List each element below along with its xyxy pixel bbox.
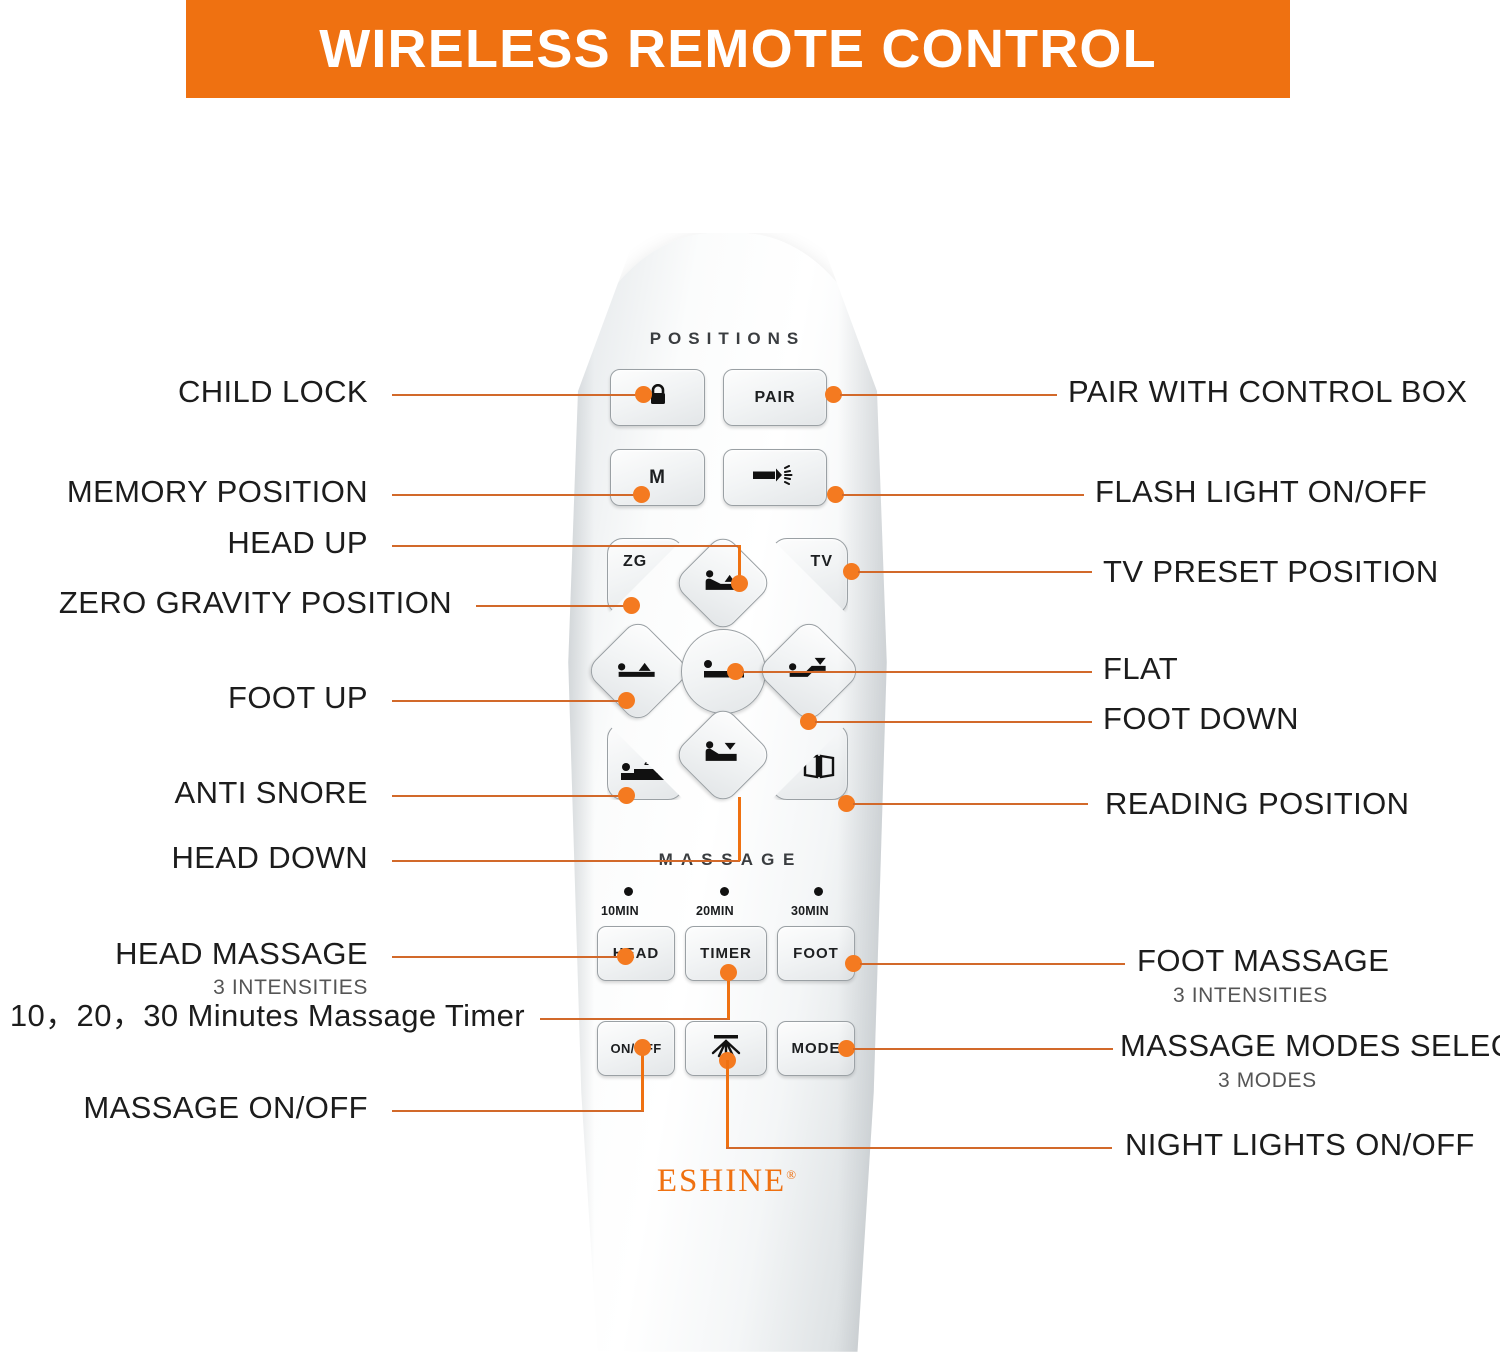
book-icon bbox=[803, 754, 835, 785]
leader-line-head-down bbox=[392, 860, 740, 862]
callout-label-anti-snore: ANTI SNORE bbox=[0, 777, 368, 810]
leader-line-memory-position bbox=[392, 494, 643, 496]
callout-label-flat: FLAT bbox=[1103, 653, 1178, 686]
leader-line-child-lock bbox=[392, 394, 645, 396]
button-pair[interactable]: PAIR bbox=[723, 369, 827, 426]
leader-line-massage-timer bbox=[540, 1018, 730, 1020]
callout-label-head-up: HEAD UP bbox=[0, 527, 368, 560]
leader-line-head-massage bbox=[392, 956, 624, 958]
timer-led-10min bbox=[624, 887, 633, 896]
leader-line-flash-light bbox=[842, 494, 1084, 496]
button-foot-massage[interactable]: FOOT bbox=[777, 926, 855, 981]
leader-line-head-up bbox=[392, 545, 740, 547]
callout-label-foot-up: FOOT UP bbox=[0, 682, 368, 715]
button-anti-snore[interactable]: z z bbox=[607, 723, 684, 800]
timer-label-10min: 10MIN bbox=[601, 904, 639, 918]
button-foot-label: FOOT bbox=[793, 945, 839, 962]
leader-dot-child-lock bbox=[635, 386, 652, 403]
callout-label-massage-onoff: MASSAGE ON/OFF bbox=[0, 1092, 368, 1125]
button-head-massage[interactable]: HEAD bbox=[597, 926, 675, 981]
callout-label-head-massage: HEAD MASSAGE bbox=[0, 938, 368, 971]
leader-line-reading-position bbox=[853, 803, 1088, 805]
button-zg-label: ZG bbox=[623, 553, 647, 571]
button-pair-label: PAIR bbox=[754, 389, 795, 407]
callout-label-pair-control-box: PAIR WITH CONTROL BOX bbox=[1068, 376, 1467, 409]
button-timer-label: TIMER bbox=[700, 945, 752, 962]
leader-line-tv-preset bbox=[858, 571, 1092, 573]
leader-dot-massage-timer bbox=[720, 964, 737, 981]
leader-line-night-lights bbox=[726, 1147, 1112, 1149]
leader-dot-foot-up bbox=[618, 692, 635, 709]
callout-label-child-lock: CHILD LOCK bbox=[0, 376, 368, 409]
svg-text:z: z bbox=[644, 756, 650, 768]
leader-line-foot-up bbox=[392, 700, 627, 702]
leader-line-zero-gravity bbox=[476, 605, 631, 607]
callout-label-massage-timer: 10，20，30 Minutes Massage Timer bbox=[0, 1000, 525, 1033]
callout-label-night-lights: NIGHT LIGHTS ON/OFF bbox=[1125, 1129, 1475, 1162]
callout-sub-massage-modes: 3 MODES bbox=[1218, 1069, 1317, 1093]
head-down-icon bbox=[703, 740, 743, 771]
leader-dot-massage-onoff bbox=[634, 1039, 651, 1056]
leader-line-flat bbox=[742, 671, 1092, 673]
button-tv-label: TV bbox=[811, 553, 833, 571]
leader-line-foot-down bbox=[815, 721, 1092, 723]
timer-label-20min: 20MIN bbox=[696, 904, 734, 918]
callout-label-flash-light: FLASH LIGHT ON/OFF bbox=[1095, 476, 1427, 509]
callout-label-memory-position: MEMORY POSITION bbox=[0, 476, 368, 509]
button-tv-preset[interactable]: TV bbox=[771, 538, 848, 615]
button-child-lock[interactable] bbox=[610, 369, 705, 426]
button-flashlight[interactable] bbox=[723, 449, 827, 506]
leader-line-massage-onoff-vertical bbox=[641, 1052, 644, 1111]
callout-label-foot-down: FOOT DOWN bbox=[1103, 703, 1299, 736]
callout-sub-head-massage: 3 INTENSITIES bbox=[0, 976, 368, 1000]
button-memory[interactable]: M bbox=[610, 449, 705, 506]
infographic-canvas: WIRELESS REMOTE CONTROL POSITIONS PAIR M bbox=[0, 0, 1500, 1371]
leader-dot-head-massage bbox=[617, 948, 634, 965]
button-mode-label: MODE bbox=[792, 1040, 841, 1057]
leader-dot-memory-position bbox=[633, 486, 650, 503]
brand-registered-mark: ® bbox=[786, 1167, 798, 1182]
button-reading-position[interactable] bbox=[771, 723, 848, 800]
brand-logo: ESHINE® bbox=[565, 1163, 890, 1200]
flashlight-icon bbox=[752, 465, 798, 490]
positions-section-title: POSITIONS bbox=[565, 329, 890, 349]
brand-name: ESHINE bbox=[657, 1163, 786, 1199]
timer-led-20min bbox=[720, 887, 729, 896]
button-head-up[interactable] bbox=[672, 532, 774, 634]
button-zero-gravity[interactable]: ZG bbox=[607, 538, 684, 615]
leader-dot-head-up bbox=[731, 575, 748, 592]
header-banner: WIRELESS REMOTE CONTROL bbox=[186, 0, 1290, 98]
leader-line-massage-onoff bbox=[392, 1110, 644, 1112]
leader-line-foot-massage bbox=[860, 963, 1125, 965]
callout-label-head-down: HEAD DOWN bbox=[0, 842, 368, 875]
page-title: WIRELESS REMOTE CONTROL bbox=[319, 18, 1157, 80]
callout-sub-foot-massage: 3 INTENSITIES bbox=[1173, 984, 1328, 1008]
leader-line-anti-snore bbox=[392, 795, 625, 797]
leader-line-pair-control-box bbox=[840, 394, 1057, 396]
button-foot-up[interactable] bbox=[584, 617, 691, 724]
leader-dot-zero-gravity bbox=[623, 597, 640, 614]
svg-text:z: z bbox=[653, 753, 658, 763]
leader-line-massage-modes bbox=[853, 1048, 1113, 1050]
leader-dot-anti-snore bbox=[618, 787, 635, 804]
button-memory-label: M bbox=[649, 467, 666, 489]
anti-snore-icon: z z bbox=[618, 753, 670, 788]
callout-label-foot-massage: FOOT MASSAGE bbox=[1137, 945, 1389, 978]
callout-label-zero-gravity: ZERO GRAVITY POSITION bbox=[0, 587, 452, 620]
callout-label-massage-modes: MASSAGE MODES SELECT bbox=[1120, 1030, 1500, 1063]
foot-up-icon bbox=[617, 658, 659, 685]
leader-line-head-down-vertical bbox=[738, 797, 741, 861]
leader-line-night-lights-vertical bbox=[726, 1060, 729, 1148]
timer-led-30min bbox=[814, 887, 823, 896]
callout-label-reading-position: READING POSITION bbox=[1105, 788, 1409, 821]
callout-label-tv-preset: TV PRESET POSITION bbox=[1103, 556, 1439, 589]
timer-label-30min: 30MIN bbox=[791, 904, 829, 918]
button-head-down[interactable] bbox=[672, 704, 774, 806]
